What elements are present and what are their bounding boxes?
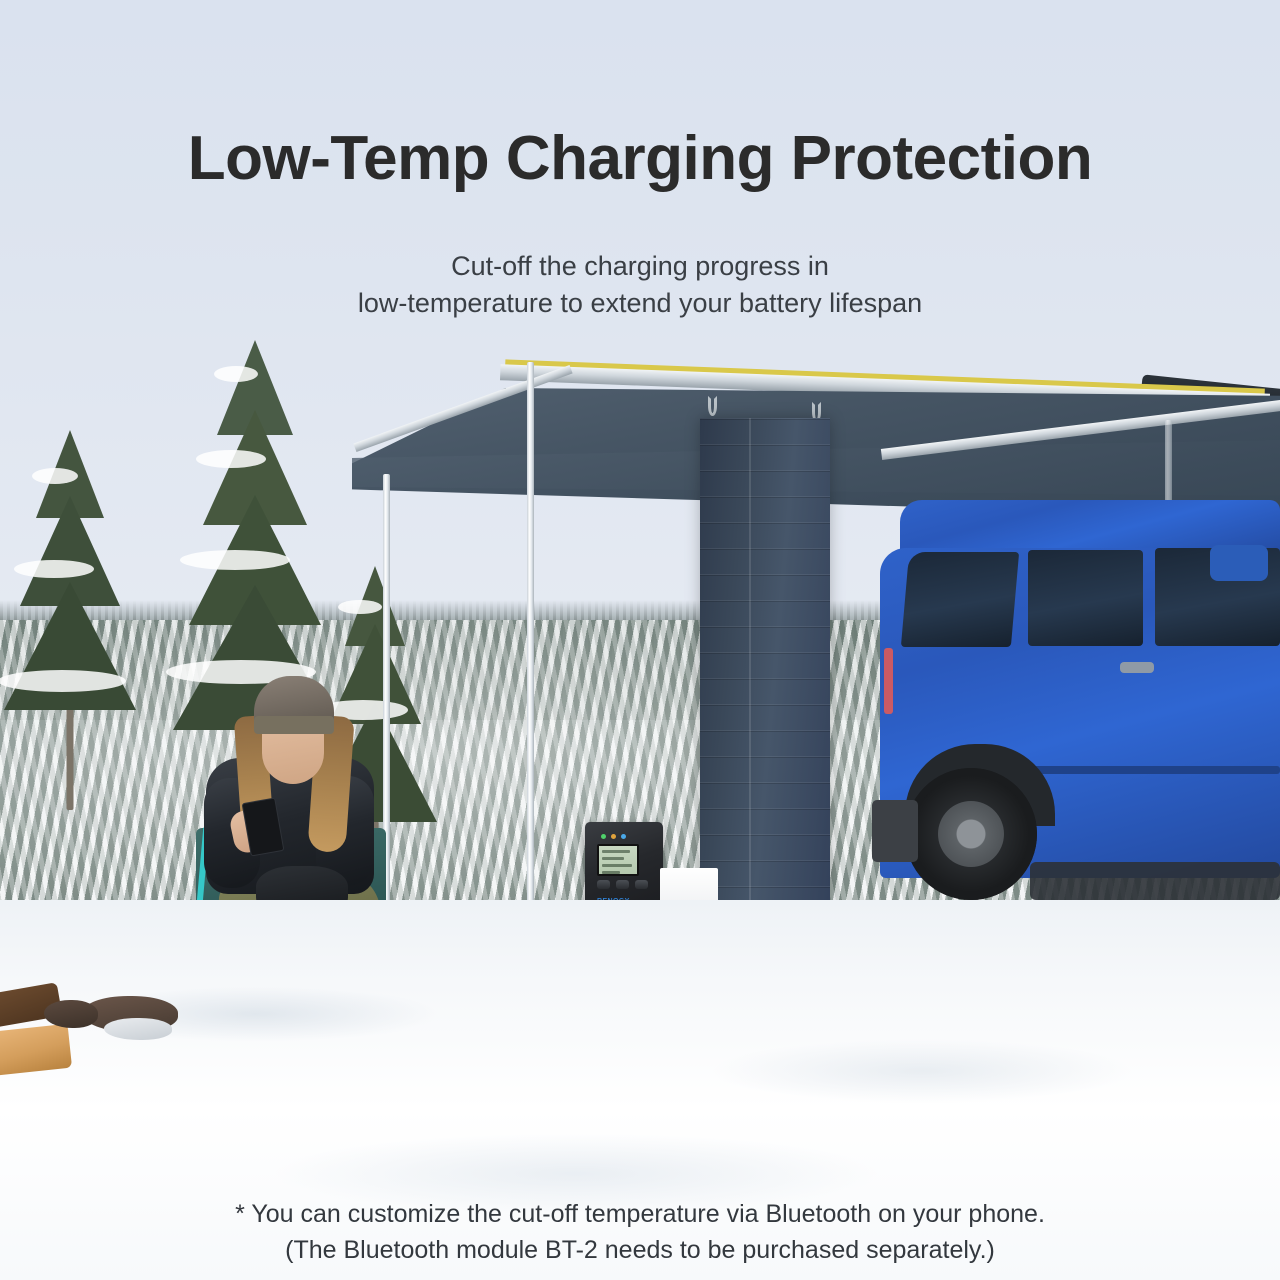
firewood-log-front (0, 1024, 72, 1077)
suv-rear-window (901, 552, 1019, 647)
subtitle-line-1: Cut-off the charging progress in (0, 248, 1280, 285)
rock-small (44, 1000, 98, 1028)
beanie-cuff (254, 716, 334, 734)
status-led-blue (621, 834, 626, 839)
promo-image: RENOGY RENOGY 12V 100AH/10HR VALVE REGUL… (0, 0, 1280, 1280)
suv-door-handle-rear (1120, 662, 1154, 673)
suv-taillight (884, 648, 893, 714)
suv-rear-door-window (1028, 550, 1143, 646)
panel-hook-left (708, 396, 717, 416)
footnote-line-1: * You can customize the cut-off temperat… (0, 1196, 1280, 1232)
controller-button-right[interactable] (635, 880, 648, 889)
flexible-solar-panel (700, 418, 830, 938)
footnote-block: * You can customize the cut-off temperat… (0, 1196, 1280, 1269)
suv-front-rim (938, 801, 1004, 867)
suv-front-bumper (872, 800, 918, 862)
suv-side-mirror (1210, 545, 1268, 581)
page-title: Low-Temp Charging Protection (0, 126, 1280, 191)
controller-lcd-screen (597, 844, 639, 876)
awning-pole-center (527, 362, 534, 954)
suv-undercarriage-shadow (1030, 862, 1280, 900)
controller-button-left[interactable] (597, 880, 610, 889)
subtitle-block: Cut-off the charging progress in low-tem… (0, 248, 1280, 321)
pine-tree-left-edge (0, 420, 150, 800)
subtitle-line-2: low-temperature to extend your battery l… (0, 285, 1280, 322)
status-led-green (601, 834, 606, 839)
footnote-line-2: (The Bluetooth module BT-2 needs to be p… (0, 1232, 1280, 1268)
rock-snowy (104, 1018, 172, 1040)
status-led-amber (611, 834, 616, 839)
controller-button-center[interactable] (616, 880, 629, 889)
